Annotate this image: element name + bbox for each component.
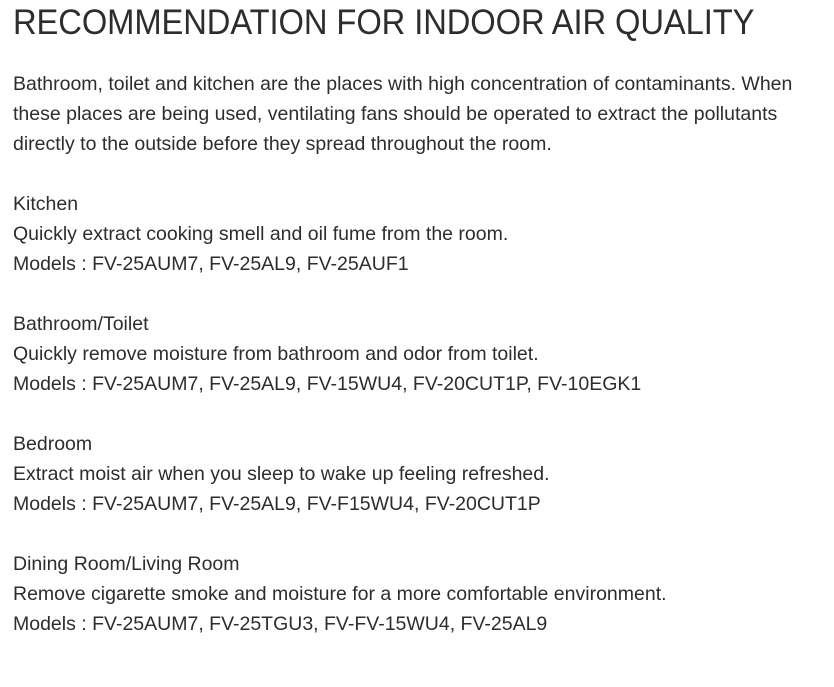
section-bathroom-toilet: Bathroom/Toilet Quickly remove moisture …	[13, 279, 824, 399]
section-heading: Bathroom/Toilet	[13, 309, 824, 339]
section-bedroom: Bedroom Extract moist air when you sleep…	[13, 399, 824, 519]
section-description: Remove cigarette smoke and moisture for …	[13, 579, 824, 609]
section-models: Models : FV-25AUM7, FV-25AL9, FV-25AUF1	[13, 249, 824, 279]
section-description: Quickly extract cooking smell and oil fu…	[13, 219, 824, 249]
section-models: Models : FV-25AUM7, FV-25TGU3, FV-FV-15W…	[13, 609, 824, 639]
section-heading: Dining Room/Living Room	[13, 549, 824, 579]
section-description: Quickly remove moisture from bathroom an…	[13, 339, 824, 369]
section-kitchen: Kitchen Quickly extract cooking smell an…	[13, 159, 824, 279]
section-dining-living-room: Dining Room/Living Room Remove cigarette…	[13, 519, 824, 639]
section-models: Models : FV-25AUM7, FV-25AL9, FV-F15WU4,…	[13, 489, 824, 519]
section-description: Extract moist air when you sleep to wake…	[13, 459, 824, 489]
section-heading: Kitchen	[13, 189, 824, 219]
document-page: RECOMMENDATION FOR INDOOR AIR QUALITY Ba…	[0, 0, 834, 687]
page-title: RECOMMENDATION FOR INDOOR AIR QUALITY	[13, 0, 771, 43]
section-heading: Bedroom	[13, 429, 824, 459]
section-models: Models : FV-25AUM7, FV-25AL9, FV-15WU4, …	[13, 369, 824, 399]
intro-paragraph: Bathroom, toilet and kitchen are the pla…	[13, 43, 813, 159]
